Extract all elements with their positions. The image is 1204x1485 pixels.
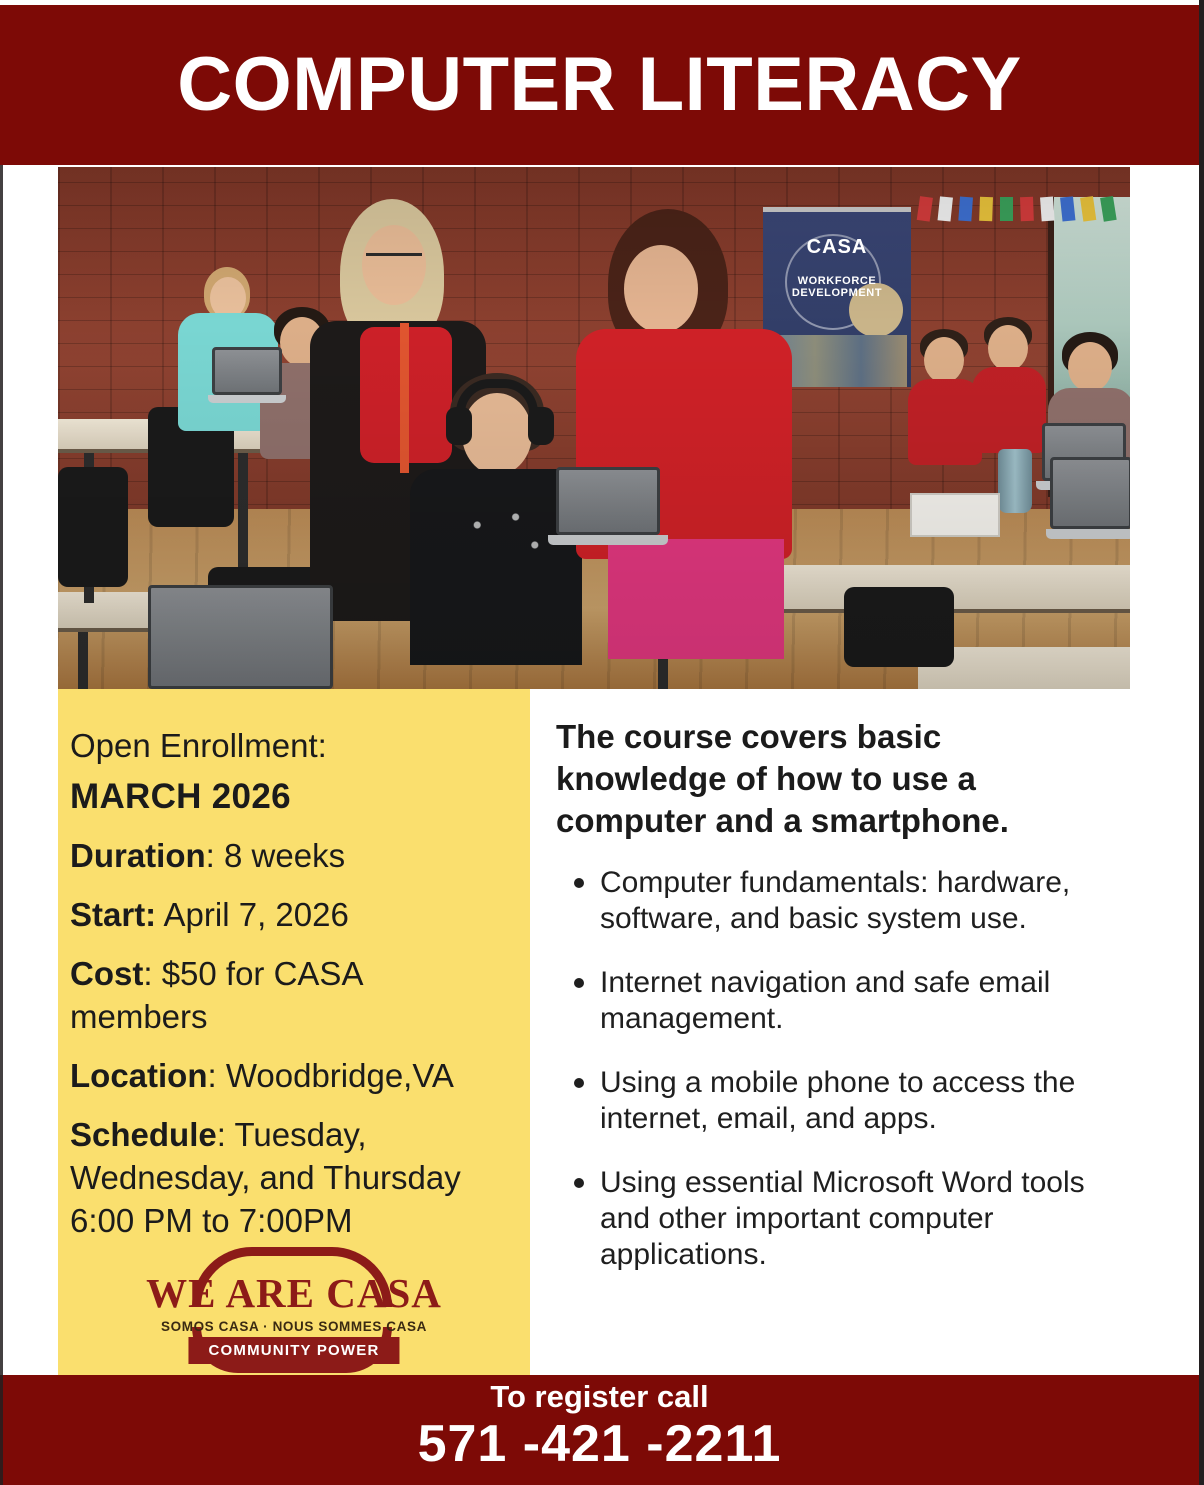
bunting-flag	[1060, 196, 1075, 221]
detail-value-start: April 7, 2026	[164, 896, 349, 933]
bunting-flag	[1040, 197, 1055, 222]
detail-row-location: Location: Woodbridge,VA	[70, 1055, 506, 1098]
headset-earcup	[446, 407, 472, 445]
lanyard	[400, 323, 409, 473]
bullet-dot-icon	[574, 878, 584, 888]
bullet-dot-icon	[574, 1078, 584, 1088]
flyer-poster: COMPUTER LITERACY CASA WORKFORCE DEVELOP…	[0, 0, 1204, 1485]
bullet-dot-icon	[574, 1178, 584, 1188]
laptop-screen	[1050, 457, 1130, 529]
detail-label-cost: Cost	[70, 955, 143, 992]
head	[362, 225, 426, 305]
eyeglasses-icon	[366, 253, 422, 265]
laptop	[138, 585, 348, 689]
page-title: COMPUTER LITERACY	[177, 47, 1022, 123]
page-border-left	[0, 165, 3, 1485]
head	[988, 325, 1028, 371]
head	[624, 245, 698, 333]
torso	[908, 379, 982, 465]
list-item-label: Using a mobile phone to access the inter…	[600, 1066, 1075, 1135]
bunting-flag	[1080, 196, 1096, 222]
banner-brand: CASA	[763, 236, 911, 259]
detail-sep: :	[217, 1116, 235, 1153]
list-item: Using essential Microsoft Word tools and…	[556, 1165, 1116, 1273]
footer-bar: To register call 571 -421 -2211	[0, 1375, 1199, 1485]
table-leg	[78, 632, 88, 689]
enrollment-label-row: Open Enrollment:	[70, 725, 506, 768]
enrollment-details-list: Open Enrollment: MARCH 2026 Duration: 8 …	[70, 725, 506, 1243]
laptop	[548, 467, 668, 547]
bunting-flag	[938, 196, 953, 221]
laptop-screen	[556, 467, 660, 535]
banner-line1: WORKFORCE	[763, 275, 911, 287]
detail-label-schedule: Schedule	[70, 1116, 217, 1153]
head	[1068, 342, 1112, 392]
enrollment-month-row: MARCH 2026	[70, 774, 506, 820]
detail-label-start: Start:	[70, 896, 156, 933]
paper-box	[910, 493, 1000, 537]
laptop-screen	[148, 585, 333, 689]
list-item-label: Computer fundamentals: hardware, softwar…	[600, 866, 1070, 935]
enrollment-info-panel: Open Enrollment: MARCH 2026 Duration: 8 …	[58, 689, 530, 1375]
laptop-screen	[212, 347, 282, 395]
bunting-flag	[1020, 197, 1034, 221]
bunting-flag	[979, 197, 993, 221]
laptop	[1046, 457, 1130, 543]
chair	[58, 467, 128, 587]
logo-inner: WE ARE CASA SOMOS CASA · NOUS SOMMES CAS…	[134, 1245, 454, 1363]
detail-row-cost: Cost: $50 for CASA members	[70, 953, 506, 1039]
bunting-flag	[917, 196, 933, 222]
course-topics-list: Computer fundamentals: hardware, softwar…	[556, 865, 1116, 1273]
detail-sep: :	[143, 955, 161, 992]
bunting-flag	[958, 197, 973, 222]
detail-sep: :	[208, 1057, 226, 1094]
detail-value-duration: 8 weeks	[224, 837, 345, 874]
detail-label-location: Location	[70, 1057, 208, 1094]
phone-number[interactable]: 571 -421 -2211	[418, 1416, 782, 1473]
header-bar: COMPUTER LITERACY	[0, 5, 1199, 165]
laptop-base	[208, 395, 286, 403]
bunting-flag	[1100, 196, 1117, 222]
list-item: Computer fundamentals: hardware, softwar…	[556, 865, 1116, 937]
detail-row-duration: Duration: 8 weeks	[70, 835, 506, 878]
detail-sep	[156, 896, 163, 933]
head	[924, 337, 964, 383]
logo-community-power-banner: COMMUNITY POWER	[188, 1337, 399, 1364]
chair	[844, 587, 954, 667]
detail-sep: :	[206, 837, 224, 874]
list-item: Internet navigation and safe email manag…	[556, 965, 1116, 1037]
laptop	[208, 347, 286, 403]
skirt	[608, 539, 784, 659]
laptop-base	[548, 535, 668, 545]
detail-label-duration: Duration	[70, 837, 206, 874]
enrollment-month: MARCH 2026	[70, 777, 291, 816]
we-are-casa-logo: WE ARE CASA SOMOS CASA · NOUS SOMMES CAS…	[58, 1245, 530, 1363]
tumbler-cup	[998, 449, 1032, 513]
enrollment-label: Open Enrollment:	[70, 727, 327, 764]
detail-row-schedule: Schedule: Tuesday, Wednesday, and Thursd…	[70, 1114, 506, 1243]
bunting-flag	[1000, 197, 1013, 221]
torso	[972, 367, 1046, 453]
bullet-dot-icon	[574, 978, 584, 988]
headset-earcup	[528, 407, 554, 445]
course-heading: The course covers basic knowledge of how…	[556, 716, 1116, 843]
classroom-photo: CASA WORKFORCE DEVELOPMENT	[58, 167, 1130, 689]
logo-wordmark: WE ARE CASA	[134, 1273, 454, 1314]
page-border-right	[1199, 0, 1204, 1485]
banner-line2: DEVELOPMENT	[763, 287, 911, 299]
detail-row-start: Start: April 7, 2026	[70, 894, 506, 937]
detail-value-location: Woodbridge,VA	[226, 1057, 454, 1094]
list-item-label: Internet navigation and safe email manag…	[600, 966, 1050, 1035]
flag-bunting	[918, 197, 1130, 287]
list-item-label: Using essential Microsoft Word tools and…	[600, 1166, 1085, 1271]
course-description-column: The course covers basic knowledge of how…	[556, 716, 1116, 1301]
logo-tagline: SOMOS CASA · NOUS SOMMES CASA	[134, 1319, 454, 1334]
register-call-label: To register call	[490, 1380, 708, 1414]
tshirt-graphic	[458, 501, 554, 581]
list-item: Using a mobile phone to access the inter…	[556, 1065, 1116, 1137]
laptop-base	[1046, 529, 1130, 539]
